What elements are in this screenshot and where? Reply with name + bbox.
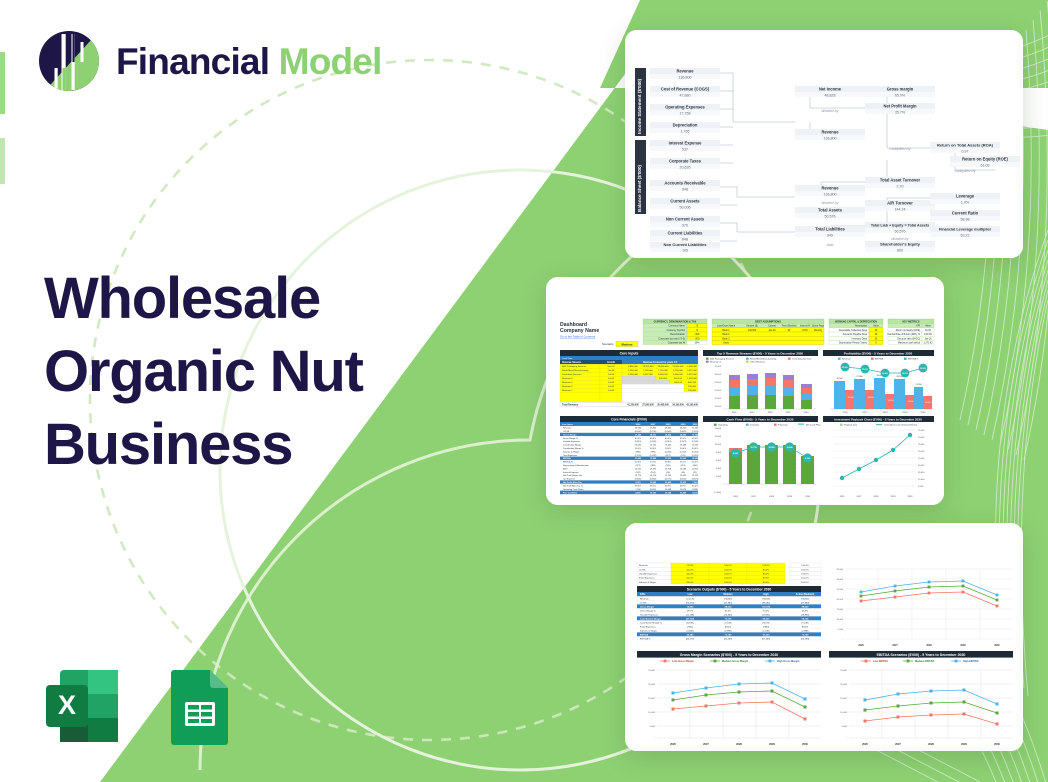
svg-text:Gross Margin: Gross Margin xyxy=(563,433,577,436)
svg-text:100.0%: 100.0% xyxy=(724,574,731,576)
svg-text:EBITDA: EBITDA xyxy=(640,633,649,636)
svg-text:10,200: 10,200 xyxy=(786,447,793,449)
svg-text:8,850,000: 8,850,000 xyxy=(628,366,639,368)
svg-text:(355): (355) xyxy=(666,465,671,467)
svg-text:KEY METRICS: KEY METRICS xyxy=(902,320,919,323)
svg-text:High EBITDA: High EBITDA xyxy=(963,660,979,663)
svg-text:Bank 2: Bank 2 xyxy=(722,334,730,336)
svg-text:15,000: 15,000 xyxy=(840,698,847,700)
svg-text:Maximum cash deficit: Maximum cash deficit xyxy=(898,342,920,345)
svg-text:Corporate Taxes: Corporate Taxes xyxy=(669,159,702,164)
svg-text:4,000: 4,000 xyxy=(716,468,722,470)
svg-text:35,400,000: 35,400,000 xyxy=(657,403,669,406)
circle-bar-chart-logo-icon xyxy=(36,28,102,94)
svg-text:10,650: 10,650 xyxy=(650,482,657,484)
svg-text:4,000,000: 4,000,000 xyxy=(687,366,698,368)
svg-text:58.98: 58.98 xyxy=(961,217,970,221)
svg-text:61.03: 61.03 xyxy=(981,163,990,167)
svg-text:1,371.63: 1,371.63 xyxy=(924,343,934,345)
svg-text:(2,248): (2,248) xyxy=(692,441,699,443)
svg-text:158,580: 158,580 xyxy=(762,598,771,600)
svg-text:Contribution Margin: Contribution Margin xyxy=(640,617,662,620)
google-sheets-icon[interactable] xyxy=(156,662,244,750)
svg-text:Revenue 5: Revenue 5 xyxy=(562,382,573,384)
svg-text:61.03: 61.03 xyxy=(925,330,931,332)
svg-text:110.0%: 110.0% xyxy=(686,574,693,576)
svg-text:10,668: 10,668 xyxy=(665,489,672,491)
svg-text:Low Gross Margin: Low Gross Margin xyxy=(672,660,694,663)
svg-text:2029: 2029 xyxy=(961,742,967,746)
svg-text:-: - xyxy=(684,115,685,119)
svg-text:10,191: 10,191 xyxy=(650,492,657,494)
brand-word-financial: Financial xyxy=(116,41,269,82)
svg-text:(2,946): (2,946) xyxy=(650,441,657,443)
svg-text:949: 949 xyxy=(827,233,833,237)
svg-text:Growth: Growth xyxy=(607,361,616,364)
svg-text:100.0%: 100.0% xyxy=(724,578,731,580)
svg-text:2030: 2030 xyxy=(994,742,1000,746)
svg-text:10,148: 10,148 xyxy=(665,491,672,494)
svg-text:(4,550): (4,550) xyxy=(680,479,687,481)
svg-text:(3,370): (3,370) xyxy=(692,479,699,481)
svg-text:15,450: 15,450 xyxy=(665,445,672,447)
svg-text:80,320: 80,320 xyxy=(763,618,770,620)
svg-text:(7,108): (7,108) xyxy=(725,622,732,624)
headline-line-2: Organic Nut xyxy=(44,335,363,408)
svg-text:(827): (827) xyxy=(666,455,671,457)
svg-text:(27,710): (27,710) xyxy=(686,618,694,620)
svg-text:Medium: Medium xyxy=(622,342,633,346)
svg-text:65.0%: 65.0% xyxy=(802,610,808,612)
svg-text:Interest Expense: Interest Expense xyxy=(669,141,702,146)
svg-text:(1,195): (1,195) xyxy=(635,455,642,457)
svg-text:Interest Expense: Interest Expense xyxy=(563,471,579,474)
svg-text:Fixed Expenses: Fixed Expenses xyxy=(640,626,656,628)
supported-apps: X xyxy=(38,662,244,750)
svg-text:Return on Total Assets (ROA): Return on Total Assets (ROA) xyxy=(937,143,994,148)
svg-text:10,250: 10,250 xyxy=(768,447,775,449)
svg-text:13,800,000: 13,800,000 xyxy=(643,366,655,368)
svg-text:75,750: 75,750 xyxy=(725,618,732,620)
svg-text:Total Asset Turnover: Total Asset Turnover xyxy=(880,178,921,183)
svg-text:15,732: 15,732 xyxy=(665,475,672,477)
brand-word-model: Model xyxy=(279,41,382,82)
svg-text:35,000: 35,000 xyxy=(837,569,844,571)
svg-text:2028: 2028 xyxy=(928,742,934,746)
svg-text:2027: 2027 xyxy=(750,412,756,414)
svg-text:(4,770): (4,770) xyxy=(665,479,672,481)
svg-text:11,292: 11,292 xyxy=(692,475,699,477)
svg-text:Nov-26: Nov-26 xyxy=(607,366,615,368)
svg-text:Amount ($): Amount ($) xyxy=(746,325,758,328)
svg-text:Non Current Liabilities: Non Current Liabilities xyxy=(664,242,708,247)
svg-text:41,250,000: 41,250,000 xyxy=(627,403,639,406)
svg-text:4,075,000: 4,075,000 xyxy=(687,374,698,376)
svg-text:Consulting Services: Consulting Services xyxy=(792,358,812,361)
svg-text:Salaries & Wages: Salaries & Wages xyxy=(563,450,579,453)
svg-text:180,100: 180,100 xyxy=(674,382,683,384)
svg-text:Depreciation Period (Years): Depreciation Period (Years) xyxy=(839,342,867,345)
financial-dashboard-screenshot[interactable]: Dashboard Company Name Go to the Table o… xyxy=(546,277,944,505)
svg-text:Net Profit Margin: Net Profit Margin xyxy=(884,104,917,109)
svg-text:Revenue 4: Revenue 4 xyxy=(562,378,573,380)
svg-text:20,000: 20,000 xyxy=(715,390,722,392)
svg-text:5,350,000: 5,350,000 xyxy=(628,370,639,372)
svg-text:90.0%: 90.0% xyxy=(763,574,769,576)
svg-text:13,770: 13,770 xyxy=(635,475,642,477)
svg-text:11,532: 11,532 xyxy=(692,445,699,447)
svg-text:72,860: 72,860 xyxy=(687,606,694,608)
svg-text:7,500,000: 7,500,000 xyxy=(643,370,654,372)
svg-text:Currency Symbol: Currency Symbol xyxy=(667,329,686,332)
svg-text:0.97: 0.97 xyxy=(962,149,969,153)
svg-text:107,188: 107,188 xyxy=(762,606,771,608)
svg-text:Scenario: Scenario xyxy=(602,342,614,346)
svg-text:Total Revenue: Total Revenue xyxy=(562,403,579,406)
svg-text:2030: 2030 xyxy=(921,412,927,414)
svg-text:91,330: 91,330 xyxy=(763,634,770,636)
svg-text:27,800: 27,800 xyxy=(650,428,657,430)
svg-text:High Gross Margin: High Gross Margin xyxy=(777,660,800,663)
svg-text:Currency Name: Currency Name xyxy=(668,325,685,328)
svg-text:Bulk Packaging Services: Bulk Packaging Services xyxy=(562,365,587,368)
svg-text:460,550: 460,550 xyxy=(688,382,697,384)
hero-left-pane: Financial Model Wholesale Organic Nut Bu… xyxy=(0,0,470,782)
svg-text:(2,898): (2,898) xyxy=(802,630,809,632)
svg-text:Jul-26: Jul-26 xyxy=(608,382,615,384)
svg-text:Revenue: Revenue xyxy=(821,130,839,135)
scenario-outputs-table: Scenario Outputs ($'000) - 5 Years to De… xyxy=(637,586,821,640)
svg-text:2027: 2027 xyxy=(857,496,863,498)
svg-text:KPI: KPI xyxy=(916,326,920,328)
svg-text:Core Financials ($'000): Core Financials ($'000) xyxy=(611,417,647,421)
svg-text:65.0%: 65.0% xyxy=(635,438,641,440)
svg-text:30,000: 30,000 xyxy=(715,374,722,376)
svg-text:100.0%: 100.0% xyxy=(724,582,731,584)
svg-text:Current Liabilities: Current Liabilities xyxy=(668,231,704,236)
svg-text:Accounts Payable Days: Accounts Payable Days xyxy=(843,333,868,336)
svg-text:(1,002): (1,002) xyxy=(680,451,687,453)
svg-text:(13,860): (13,860) xyxy=(801,614,809,616)
svg-text:(7,108): (7,108) xyxy=(802,622,809,624)
svg-text:multiplied by: multiplied by xyxy=(889,147,911,151)
svg-text:(388): (388) xyxy=(651,465,656,467)
svg-text:Jul-26: Jul-26 xyxy=(608,386,615,388)
svg-text:Cost of Revenue (COGS): Cost of Revenue (COGS) xyxy=(661,87,710,92)
svg-text:(62,199): (62,199) xyxy=(724,638,732,640)
svg-text:EBITDA %: EBITDA % xyxy=(640,637,650,640)
svg-text:13,292: 13,292 xyxy=(650,468,657,470)
svg-text:110.0%: 110.0% xyxy=(686,569,693,571)
svg-text:20,000: 20,000 xyxy=(648,684,655,686)
svg-text:(1,239): (1,239) xyxy=(650,455,657,457)
svg-text:Net Profit After Tax %: Net Profit After Tax % xyxy=(563,484,583,487)
svg-text:Leverage: Leverage xyxy=(956,194,975,199)
svg-text:(4,848): (4,848) xyxy=(687,630,694,632)
svg-text:14,000: 14,000 xyxy=(715,428,722,430)
svg-text:2028: 2028 xyxy=(736,742,742,746)
svg-text:32,385: 32,385 xyxy=(687,634,694,636)
svg-text:Financing: Financing xyxy=(778,425,788,427)
svg-text:divided by: divided by xyxy=(821,201,839,205)
svg-text:Jan-26: Jan-26 xyxy=(768,330,776,332)
svg-text:13,920: 13,920 xyxy=(867,397,874,399)
svg-text:2028: 2028 xyxy=(768,412,774,414)
svg-text:15,000: 15,000 xyxy=(648,698,655,700)
svg-text:(9,835): (9,835) xyxy=(680,431,687,433)
svg-text:25,000: 25,000 xyxy=(715,382,722,384)
svg-text:(11,138): (11,138) xyxy=(686,614,694,616)
svg-text:110.0%: 110.0% xyxy=(686,578,693,580)
svg-text:Go to the Table of Contents: Go to the Table of Contents xyxy=(560,335,596,339)
svg-text:50.2%: 50.2% xyxy=(920,368,926,370)
svg-text:Salaries & Wages: Salaries & Wages xyxy=(639,581,657,584)
svg-text:35,000: 35,000 xyxy=(715,366,722,368)
svg-text:2026: 2026 xyxy=(732,412,738,414)
svg-text:Operating Cash Flows: Operating Cash Flows xyxy=(563,488,584,491)
svg-text:(57,199): (57,199) xyxy=(762,638,770,640)
svg-text:25,000: 25,000 xyxy=(837,589,844,591)
svg-text:(2,898): (2,898) xyxy=(725,630,732,632)
svg-text:(8,198): (8,198) xyxy=(687,622,694,624)
svg-text:(21): (21) xyxy=(693,472,697,474)
debt-assumptions-block: DEBT ASSUMPTIONS Loan/Grant NameAmount (… xyxy=(712,319,825,345)
svg-text:220,000: 220,000 xyxy=(688,390,697,392)
svg-text:6,038,100: 6,038,100 xyxy=(658,374,669,376)
svg-text:70.4%: 70.4% xyxy=(763,610,769,612)
svg-text:2026: 2026 xyxy=(862,742,868,746)
svg-text:12,000: 12,000 xyxy=(715,436,722,438)
microsoft-excel-icon[interactable]: X xyxy=(38,662,126,750)
svg-text:300,000: 300,000 xyxy=(659,378,668,380)
svg-text:6,000: 6,000 xyxy=(716,460,722,462)
svg-text:Inventory Days: Inventory Days xyxy=(852,337,868,340)
svg-text:-: - xyxy=(684,133,685,137)
svg-text:30,000: 30,000 xyxy=(837,579,844,581)
svg-text:Revenue 6: Revenue 6 xyxy=(562,386,573,388)
svg-text:2027: 2027 xyxy=(863,412,869,414)
brand-logo[interactable]: Financial Model xyxy=(36,28,382,94)
svg-text:Cash Flow ($'000) - 5 Years to: Cash Flow ($'000) - 5 Years to December … xyxy=(727,417,794,421)
svg-text:Term (Months): Term (Months) xyxy=(782,325,797,328)
svg-text:25,000: 25,000 xyxy=(918,451,925,453)
svg-text:136,800: 136,800 xyxy=(724,598,733,600)
svg-text:5,000: 5,000 xyxy=(650,726,656,728)
svg-text:(90): (90) xyxy=(681,472,685,474)
svg-text:EBIT: EBIT xyxy=(563,468,568,470)
svg-text:(47,880): (47,880) xyxy=(724,602,732,604)
svg-text:Jul-26: Jul-26 xyxy=(608,390,615,392)
svg-text:Payback year: Payback year xyxy=(844,424,858,427)
svg-text:Revenue: Revenue xyxy=(639,565,649,567)
svg-text:65.0%: 65.0% xyxy=(895,93,906,97)
core-inputs-panel: Core Inputs Lead Time Revenue Streams Gr… xyxy=(560,350,698,407)
scenario-assumptions-table: Revenue -20.0%100.0% 120.0%100.0% COGS 1… xyxy=(637,563,821,584)
svg-text:11,802: 11,802 xyxy=(692,468,699,470)
svg-text:(7501): (7501) xyxy=(687,626,694,628)
scenario-analysis-screenshot[interactable]: Revenue -20.0%100.0% 120.0%100.0% COGS 1… xyxy=(625,523,1023,751)
svg-text:Bulk Packaging Services: Bulk Packaging Services xyxy=(710,358,735,361)
scenario-output-rows: Revenue 121,130136,800158,580136,800 COG… xyxy=(637,596,821,640)
svg-text:10,650: 10,650 xyxy=(924,402,931,404)
working-capital-depreciation-block: WORKING CAPITAL & DEPRECIATION Assumptio… xyxy=(829,319,883,345)
svg-text:13,900: 13,900 xyxy=(847,397,854,399)
svg-text:7,922: 7,922 xyxy=(692,482,698,484)
svg-text:10,728: 10,728 xyxy=(665,468,672,470)
svg-text:38.1%: 38.1% xyxy=(650,485,656,487)
svg-text:Revenue: Revenue xyxy=(676,69,694,74)
svg-text:Internal Rate of Return (IRR),: Internal Rate of Return (IRR), % xyxy=(887,333,920,336)
svg-text:20,000: 20,000 xyxy=(837,599,844,601)
svg-text:Contribution Margin: Contribution Margin xyxy=(563,444,582,447)
svg-text:(4,560): (4,560) xyxy=(650,479,657,481)
svg-text:11,000: 11,000 xyxy=(908,401,915,403)
svg-text:Net Income: Net Income xyxy=(819,87,842,92)
svg-text:Revenue 4: Revenue 4 xyxy=(710,362,721,364)
svg-text:10,000: 10,000 xyxy=(648,712,655,714)
svg-text:Salaries & Wages: Salaries & Wages xyxy=(640,629,658,632)
svg-text:2029: 2029 xyxy=(787,496,793,498)
svg-text:2028: 2028 xyxy=(926,644,932,647)
svg-text:10,000: 10,000 xyxy=(715,406,722,408)
svg-text:2026: 2026 xyxy=(858,644,864,647)
svg-text:9,970: 9,970 xyxy=(635,482,641,484)
svg-text:Current: Current xyxy=(768,325,776,328)
svg-text:7,900: 7,900 xyxy=(635,489,641,491)
svg-text:17,240: 17,240 xyxy=(635,433,642,436)
svg-text:88,920: 88,920 xyxy=(725,606,732,608)
svg-text:43,150,000: 43,150,000 xyxy=(686,403,698,406)
svg-text:(1,320): (1,320) xyxy=(692,455,699,457)
svg-text:90.0%: 90.0% xyxy=(763,578,769,580)
svg-text:39.6%: 39.6% xyxy=(665,462,671,464)
svg-text:Shareholder's Equity: Shareholder's Equity xyxy=(880,242,921,247)
svg-text:(55,78): (55,78) xyxy=(763,622,770,624)
svg-text:136,800: 136,800 xyxy=(824,136,837,140)
svg-text:Bank 3: Bank 3 xyxy=(722,338,730,340)
svg-text:Revenue 7: Revenue 7 xyxy=(562,390,573,392)
svg-text:100.0%: 100.0% xyxy=(724,569,731,571)
svg-text:10,240: 10,240 xyxy=(680,491,687,494)
svg-text:27,800,000: 27,800,000 xyxy=(642,404,654,406)
svg-text:(8107): (8107) xyxy=(802,626,809,628)
svg-text:100.0%: 100.0% xyxy=(801,569,808,571)
svg-text:8,000: 8,000 xyxy=(733,453,739,455)
svg-text:10,000: 10,000 xyxy=(840,712,847,714)
svg-text:2030: 2030 xyxy=(908,496,914,498)
dupont-analysis-screenshot[interactable]: Income Statement ($'000) Balance Sheet (… xyxy=(625,30,1023,258)
svg-text:144.6%: 144.6% xyxy=(924,334,932,336)
svg-text:Value: Value xyxy=(873,326,879,328)
svg-text:800: 800 xyxy=(897,248,903,252)
svg-text:EBITDA %: EBITDA % xyxy=(908,358,918,361)
svg-text:13,502: 13,502 xyxy=(635,468,642,470)
svg-text:70,000: 70,000 xyxy=(918,437,925,439)
svg-text:(62,179): (62,179) xyxy=(686,638,694,640)
svg-text:13,780: 13,780 xyxy=(692,434,699,436)
svg-text:Variable Expenses: Variable Expenses xyxy=(563,440,580,443)
svg-text:Jul-26: Jul-26 xyxy=(608,378,615,380)
svg-text:14,430: 14,430 xyxy=(635,445,642,447)
svg-text:2029: 2029 xyxy=(891,496,897,498)
svg-text:Revenue: Revenue xyxy=(842,359,852,361)
svg-text:8,000: 8,000 xyxy=(716,452,722,454)
core-financials-rows: Revenue26,50027,80028,40028,10021,200 CO… xyxy=(560,426,699,494)
svg-text:2027: 2027 xyxy=(651,424,657,426)
svg-text:(52,270): (52,270) xyxy=(686,602,694,604)
svg-text:Revenue Streams: Revenue Streams xyxy=(562,361,582,364)
svg-text:136,800: 136,800 xyxy=(824,192,837,196)
svg-text:15,000: 15,000 xyxy=(715,398,722,400)
svg-text:Value: Value xyxy=(925,326,931,328)
svg-text:35.0%: 35.0% xyxy=(692,485,698,487)
svg-text:11,250: 11,250 xyxy=(665,458,672,460)
headline-line-1: Wholesale xyxy=(44,262,363,335)
svg-text:(20): (20) xyxy=(666,472,670,474)
svg-text:Line Items: Line Items xyxy=(562,423,574,426)
svg-text:618,100: 618,100 xyxy=(674,378,683,380)
svg-text:(300): (300) xyxy=(693,465,698,467)
svg-text:2029: 2029 xyxy=(786,412,792,414)
svg-text:4,907,500: 4,907,500 xyxy=(643,374,654,376)
svg-text:(164): (164) xyxy=(651,472,656,474)
svg-text:54.4%: 54.4% xyxy=(680,448,686,450)
svg-text:Accounts Receivable: Accounts Receivable xyxy=(664,181,706,186)
headline-line-3: Business xyxy=(44,408,363,481)
svg-text:Cumulative Cash Invested (Year: Cumulative Cash Invested (Years) xyxy=(884,424,917,427)
svg-text:71,750: 71,750 xyxy=(802,634,809,636)
svg-text:Contribution Margin %: Contribution Margin % xyxy=(640,621,662,624)
svg-text:Current Assets: Current Assets xyxy=(670,199,700,204)
svg-text:50.2%: 50.2% xyxy=(692,462,698,464)
svg-text:(11,840): (11,840) xyxy=(762,614,770,616)
svg-text:-: - xyxy=(684,97,685,101)
svg-text:7,250,000: 7,250,000 xyxy=(658,370,669,372)
svg-text:2028: 2028 xyxy=(883,412,889,414)
svg-text:39.1%: 39.1% xyxy=(680,462,686,464)
svg-text:Revenue: Revenue xyxy=(640,598,650,600)
svg-text:(986): (986) xyxy=(651,451,656,453)
svg-text:2029: 2029 xyxy=(769,742,775,746)
svg-text:8,100: 8,100 xyxy=(692,492,698,494)
svg-text:18,265: 18,265 xyxy=(680,434,687,436)
svg-text:120.0%: 120.0% xyxy=(762,565,769,567)
svg-text:Depreciation: Depreciation xyxy=(673,123,698,128)
svg-text:90.0%: 90.0% xyxy=(763,582,769,584)
svg-text:54.4%: 54.4% xyxy=(665,448,671,450)
svg-text:Gross Margin Scenarios ($'000): Gross Margin Scenarios ($'000) - 5 Years… xyxy=(680,653,778,657)
brand-wordmark: Financial Model xyxy=(116,43,382,80)
svg-text:Bank 1: Bank 1 xyxy=(722,330,730,332)
svg-text:25,000: 25,000 xyxy=(648,670,655,672)
svg-text:26,500: 26,500 xyxy=(635,428,642,430)
svg-text:58.7%: 58.7% xyxy=(687,610,693,612)
svg-text:COGS: COGS xyxy=(639,569,646,571)
svg-text:25,000: 25,000 xyxy=(840,670,847,672)
key-metrics-block: KEY METRICS KPI Value Return on Equity (… xyxy=(887,319,934,345)
svg-text:Low: Low xyxy=(688,593,693,596)
svg-text:20,000: 20,000 xyxy=(918,458,925,460)
svg-text:Revenue: Revenue xyxy=(821,186,839,191)
svg-text:2029: 2029 xyxy=(903,412,909,414)
svg-text:2027: 2027 xyxy=(895,742,901,746)
svg-text:144.24: 144.24 xyxy=(895,207,906,211)
svg-text:-: - xyxy=(684,151,685,155)
svg-text:(8,260): (8,260) xyxy=(635,431,642,433)
svg-text:65.0%: 65.0% xyxy=(650,438,656,440)
svg-text:Gross margin: Gross margin xyxy=(887,87,914,92)
svg-text:Add: Add xyxy=(826,243,835,247)
